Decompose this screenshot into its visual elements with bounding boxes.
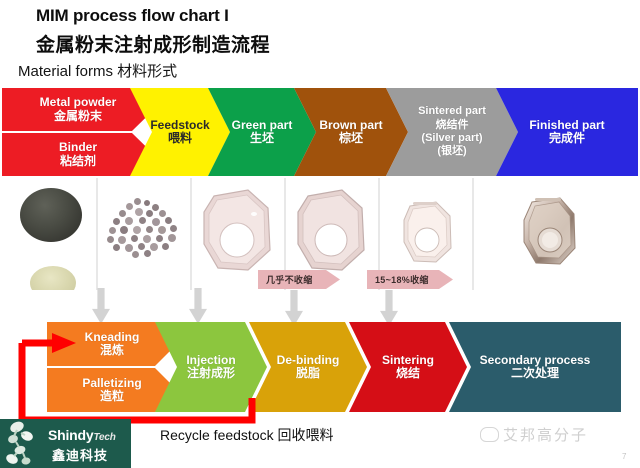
- top-process-band: Metal powder 金属粉末 Binder 粘结剂 Feedstock 喂…: [0, 88, 640, 176]
- stage-sintered-part-cn2: (银坯): [418, 145, 486, 158]
- recycle-feedstock-label: Recycle feedstock 回收喂料: [160, 425, 334, 445]
- stage-binder-en: Binder: [59, 141, 97, 154]
- no-shrinkage-note: 几乎不收缩: [258, 270, 340, 289]
- no-shrinkage-note-text: 几乎不收缩: [266, 273, 313, 286]
- stage-feedstock-cn: 喂料: [150, 132, 209, 145]
- section-subtitle: Material forms 材料形式: [18, 60, 177, 81]
- page-title-cn: 金属粉末注射成形制造流程: [36, 30, 270, 57]
- bottom-process-band: Kneading 混炼 Palletizing 造粒 Injection 注射成…: [0, 322, 640, 412]
- company-logo: ShindyTech 鑫迪科技: [0, 419, 131, 468]
- logo-wordmark-main: Shindy: [48, 427, 93, 443]
- stage-secondary-process-cn: 二次处理: [480, 367, 591, 380]
- watermark: 艾邦高分子: [480, 424, 588, 445]
- finished-part-photo: [474, 178, 640, 290]
- shindy-logo-icon: [4, 421, 48, 467]
- flow-down-arrow-4: [380, 290, 398, 326]
- stage-kneading-en: Kneading: [85, 331, 140, 344]
- flow-down-arrow-1: [92, 288, 110, 324]
- watermark-text: 艾邦高分子: [503, 427, 588, 444]
- stage-injection[interactable]: Injection 注射成形: [155, 322, 267, 412]
- stage-finished-part-cn: 完成件: [529, 132, 604, 145]
- shrinkage-note-text: 15~18%收缩: [375, 273, 429, 286]
- logo-wordmark: ShindyTech: [48, 427, 116, 443]
- stage-de-binding-cn: 脱脂: [277, 367, 340, 380]
- stage-kneading[interactable]: Kneading 混炼: [47, 322, 177, 366]
- stage-metal-powder-en: Metal powder: [40, 96, 117, 109]
- stage-sintered-part-cn: 烧结件: [418, 119, 486, 132]
- stage-green-part-cn: 生坯: [232, 132, 293, 145]
- stage-kneading-cn: 混炼: [85, 344, 140, 357]
- flow-down-arrow-2: [189, 288, 207, 324]
- page-number: 7: [622, 452, 626, 461]
- stage-metal-powder[interactable]: Metal powder 金属粉末: [2, 88, 154, 131]
- stage-green-part-en: Green part: [232, 119, 293, 132]
- stage-palletizing-cn: 造粒: [82, 390, 141, 403]
- stage-palletizing[interactable]: Palletizing 造粒: [47, 368, 177, 412]
- stage-binder-cn: 粘结剂: [59, 155, 97, 168]
- stage-secondary-process[interactable]: Secondary process 二次处理: [449, 322, 621, 412]
- flow-down-arrow-3: [285, 290, 303, 326]
- material-photo-row: 几乎不收缩 15~18%收缩: [0, 178, 640, 290]
- logo-wordmark-sub: Tech: [93, 432, 115, 443]
- stage-brown-part-cn: 棕坯: [319, 132, 382, 145]
- page-title-en: MIM process flow chart I: [36, 6, 229, 26]
- stage-feedstock-en: Feedstock: [150, 119, 209, 132]
- stage-brown-part-en: Brown part: [319, 119, 382, 132]
- stage-injection-cn: 注射成形: [186, 367, 235, 380]
- stage-de-binding-en: De-binding: [277, 354, 340, 367]
- stage-sintering-cn: 烧结: [382, 367, 434, 380]
- shrinkage-note: 15~18%收缩: [367, 270, 453, 289]
- stage-secondary-process-en: Secondary process: [480, 354, 591, 367]
- stage-palletizing-en: Palletizing: [82, 377, 141, 390]
- stage-sintering-en: Sintering: [382, 354, 434, 367]
- metal-powder-photo: [0, 178, 96, 290]
- stage-metal-powder-cn: 金属粉末: [40, 110, 117, 123]
- slide-canvas: MIM process flow chart I 金属粉末注射成形制造流程 Ma…: [0, 0, 640, 468]
- feedstock-pellets-photo: [98, 178, 190, 290]
- stage-injection-en: Injection: [186, 354, 235, 367]
- stage-sintered-part-en2: (Silver part): [418, 132, 486, 145]
- logo-wordmark-cn: 鑫迪科技: [52, 445, 108, 464]
- finished-part-shape: [474, 178, 640, 290]
- stage-finished-part-en: Finished part: [529, 119, 604, 132]
- stage-binder[interactable]: Binder 粘结剂: [2, 133, 154, 176]
- stage-sintered-part-en: Sintered part: [418, 105, 486, 118]
- wechat-icon: [480, 427, 499, 442]
